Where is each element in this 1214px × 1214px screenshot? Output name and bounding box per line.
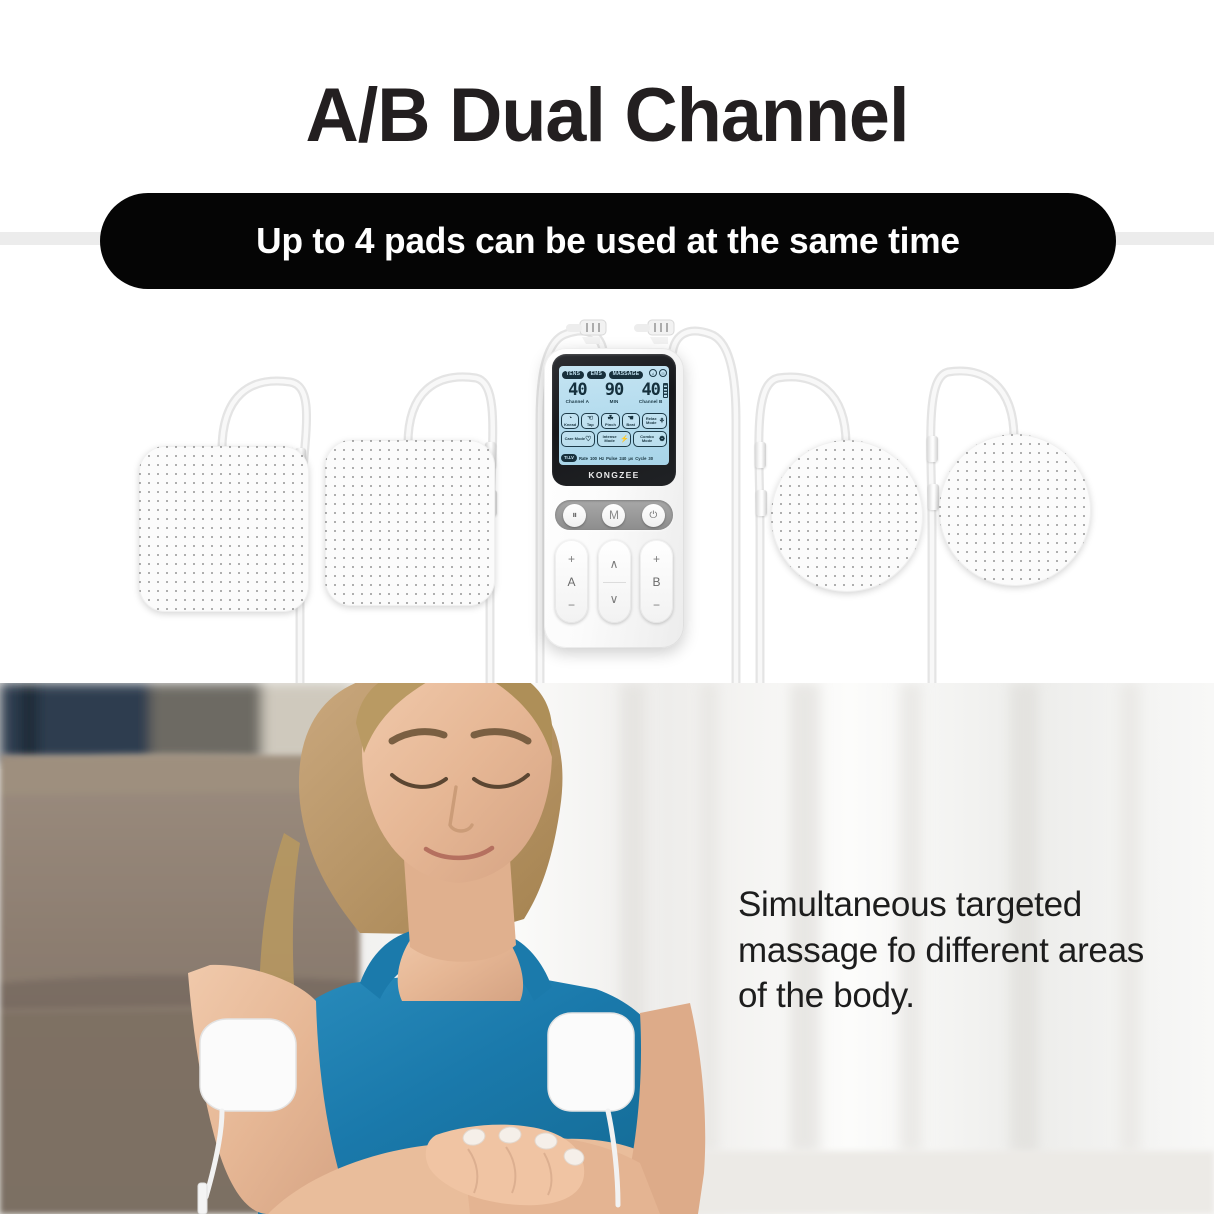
mode-knead[interactable]: ◔ Knead: [561, 413, 579, 429]
channel-a-label: Channel A: [559, 399, 596, 404]
channel-a-value: 40: [559, 381, 596, 399]
product-stage: TENS EMS MASSAGE ♫ ☉ 40 Channel A: [0, 300, 1214, 683]
photo-caption: Simultaneous targeted massage fo differe…: [738, 882, 1168, 1019]
lcd-mode-grid: ◔ Knead ☜ Tap ☘ Pinch: [561, 413, 667, 449]
mode-knead-label: Knead: [564, 423, 576, 427]
mode-relax[interactable]: Relax Mode ⚘: [642, 413, 667, 429]
rate-label: Rate: [579, 456, 588, 461]
mode-care-label: Care Mode: [565, 437, 585, 441]
nav-down-button[interactable]: ∨: [610, 592, 619, 606]
sound-icon: ♫: [649, 369, 657, 377]
mode-tap-label: Tap: [587, 423, 594, 427]
nav-control[interactable]: ∧ ∨: [598, 540, 631, 623]
wire-sleeve: [756, 490, 767, 516]
wire-sleeve: [928, 484, 939, 510]
tab-massage[interactable]: MASSAGE: [609, 371, 644, 379]
channel-a-plus[interactable]: +: [568, 552, 575, 566]
mode-button[interactable]: M: [602, 504, 625, 527]
lcd-status-icons: ♫ ☉: [649, 369, 667, 377]
channel-b-control[interactable]: + B −: [640, 540, 673, 623]
tens-ems-device[interactable]: TENS EMS MASSAGE ♫ ☉ 40 Channel A: [544, 348, 684, 648]
screen-bezel: TENS EMS MASSAGE ♫ ☉ 40 Channel A: [552, 354, 676, 486]
timer-value: 90: [596, 381, 633, 399]
mode-care[interactable]: Care Mode ♡: [561, 431, 595, 447]
page-title: A/B Dual Channel: [18, 72, 1196, 159]
wire-sleeve: [755, 442, 766, 468]
relax-icon: ⚘: [659, 418, 665, 425]
lock-icon: ☉: [659, 369, 667, 377]
cycle-value: 30: [648, 456, 653, 461]
readout-channel-a: 40 Channel A: [559, 381, 596, 411]
mode-intense-label: Intense Mode: [599, 435, 620, 443]
mode-row-named: Care Mode ♡ Intense Mode ⚡ Combo Mode ❁: [561, 431, 667, 447]
marketing-page: A/B Dual Channel Up to 4 pads can be use…: [0, 0, 1214, 1214]
channel-b-minus[interactable]: −: [653, 598, 660, 612]
heart-icon: ♡: [585, 436, 591, 443]
wire-sleeve: [927, 436, 938, 462]
rate-unit: Hz: [599, 456, 604, 461]
tab-tens[interactable]: TENS: [562, 371, 584, 379]
jack-plug-right: [634, 318, 676, 344]
channel-a-label: A: [567, 575, 575, 589]
combo-icon: ❁: [659, 436, 665, 443]
rate-value: 100: [590, 456, 597, 461]
electrode-pad-square-2: [325, 440, 495, 606]
lock-pause-button[interactable]: ⏸: [563, 504, 586, 527]
power-button[interactable]: ⏻: [642, 504, 665, 527]
channel-b-label: Channel B: [632, 399, 669, 404]
control-buttons: + A − ∧ ∨ + B −: [555, 540, 673, 623]
intensity-level: TI.LV: [561, 454, 577, 461]
timer-label: MIN: [596, 399, 633, 404]
channel-a-control[interactable]: + A −: [555, 540, 588, 623]
jack-plug-left: [566, 318, 608, 344]
bolt-icon: ⚡: [620, 436, 629, 443]
mode-relax-label: Relax Mode: [644, 417, 659, 425]
banner-pill: Up to 4 pads can be used at the same tim…: [100, 193, 1116, 289]
mode-beat-label: Beat: [626, 423, 635, 427]
mode-row-icons: ◔ Knead ☜ Tap ☘ Pinch: [561, 413, 667, 429]
readout-timer: 90 MIN: [596, 381, 633, 411]
mode-beat[interactable]: ☚ Beat: [622, 413, 640, 429]
electrode-pad-square-1: [139, 446, 309, 612]
nav-up-button[interactable]: ∧: [610, 557, 619, 571]
mode-intense[interactable]: Intense Mode ⚡: [597, 431, 631, 447]
tab-ems[interactable]: EMS: [587, 371, 606, 379]
mode-combo[interactable]: Combo Mode ❁: [633, 431, 667, 447]
electrode-pad-round-2: [939, 434, 1091, 586]
lcd-status-bar: TI.LV Rate 100 Hz Pulse 240 μs Cycle 30: [561, 453, 667, 463]
mode-pinch[interactable]: ☘ Pinch: [601, 413, 619, 429]
top-button-row: ⏸ M ⏻: [555, 500, 673, 530]
mode-tap[interactable]: ☜ Tap: [581, 413, 599, 429]
banner-text: Up to 4 pads can be used at the same tim…: [256, 220, 960, 262]
pulse-label: Pulse: [606, 456, 617, 461]
mode-pinch-label: Pinch: [605, 423, 616, 427]
lcd-readouts: 40 Channel A 90 MIN 40 Channel B: [559, 381, 669, 411]
brand-logo: KONGZEE: [552, 470, 676, 480]
pulse-unit: μs: [628, 456, 633, 461]
channel-a-minus[interactable]: −: [568, 598, 575, 612]
mode-combo-label: Combo Mode: [635, 435, 659, 443]
cycle-label: Cycle: [635, 456, 646, 461]
lcd-screen: TENS EMS MASSAGE ♫ ☉ 40 Channel A: [559, 366, 669, 465]
electrode-pad-round-1: [771, 440, 923, 592]
battery-icon: [663, 383, 668, 398]
channel-b-label: B: [652, 575, 660, 589]
pulse-value: 240: [619, 456, 626, 461]
channel-b-plus[interactable]: +: [653, 552, 660, 566]
